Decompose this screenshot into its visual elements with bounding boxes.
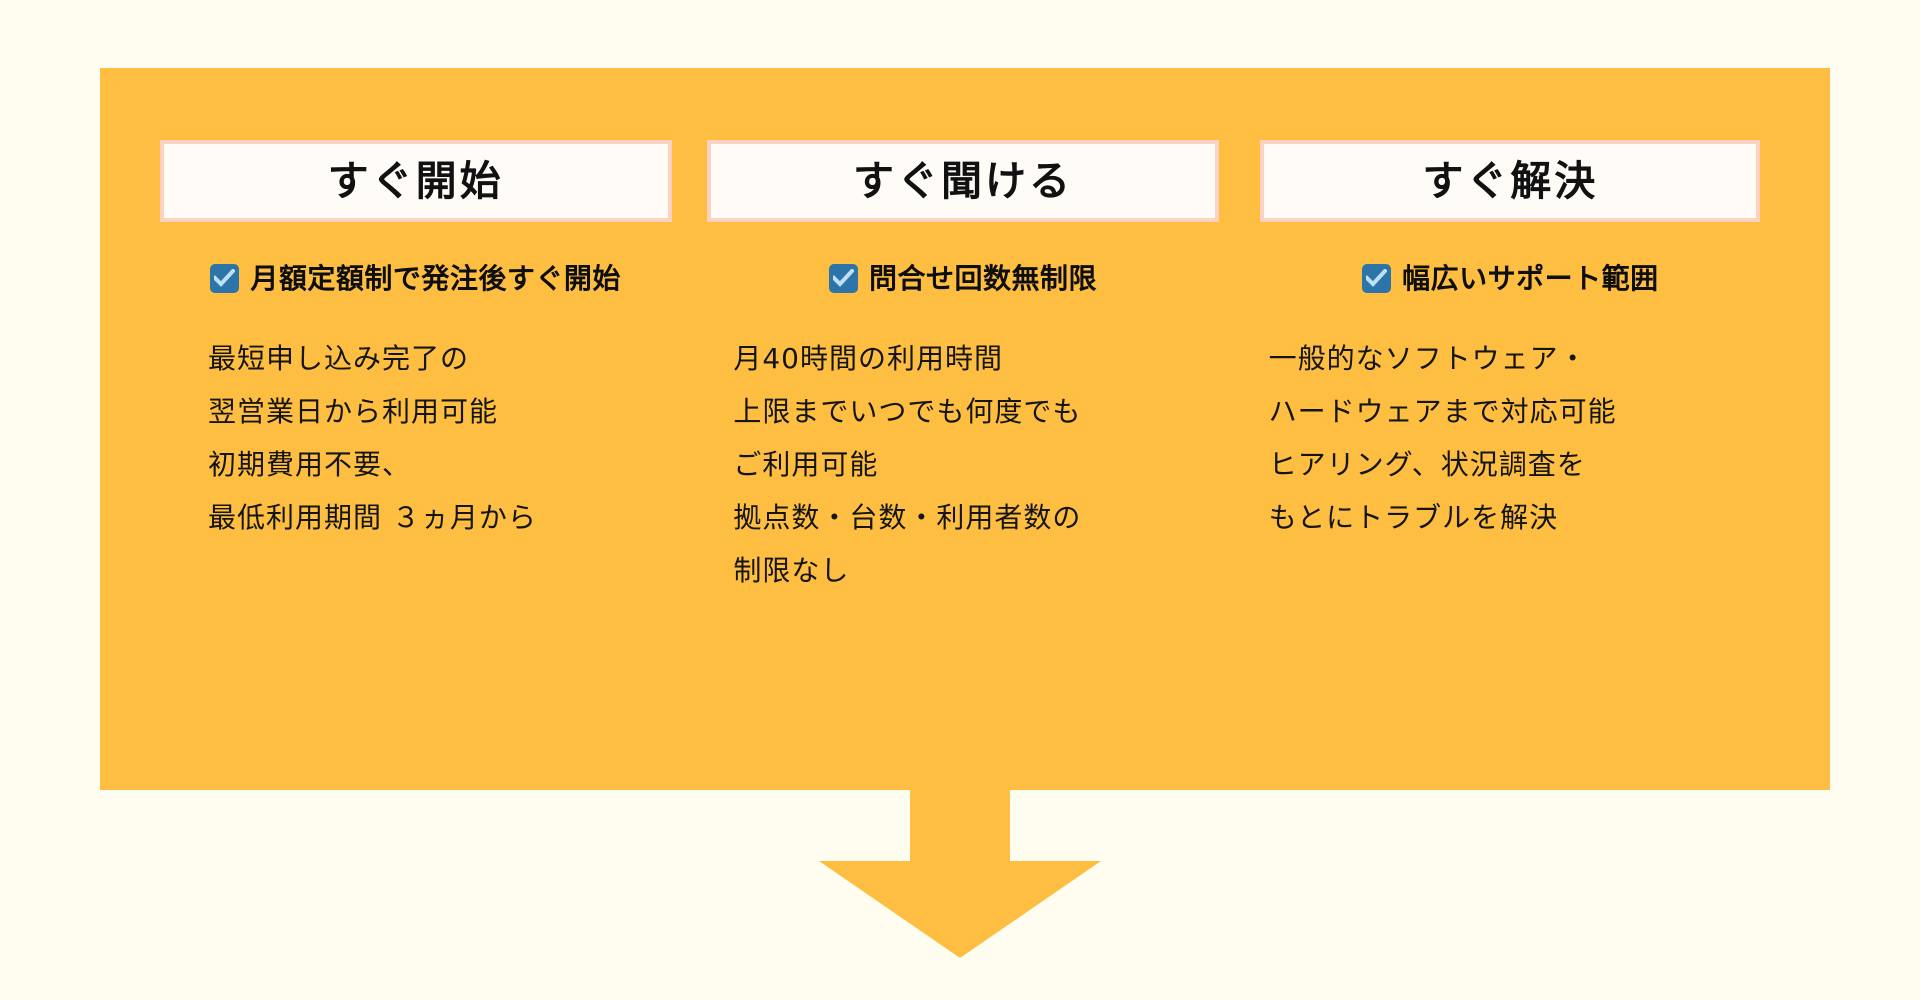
column-2-heading-box: すぐ聞ける [707, 140, 1219, 222]
column-2-subtitle: 問合せ回数無制限 [869, 265, 1097, 293]
body-line: ヒアリング、状況調査を [1269, 438, 1586, 491]
arrow-down-icon [819, 790, 1101, 958]
feature-column-3: すぐ解決 幅広いサポート範囲 一般的なソフトウェア・ ハードウェアまで対応可能 … [1237, 68, 1784, 790]
features-panel: すぐ開始 月額定額制で発注後すぐ開始 最短申し込み完了の 翌営業日から利用可能 … [100, 68, 1830, 790]
checkbox-checked-icon [210, 264, 239, 293]
column-2-subtitle-row: 問合せ回数無制限 [829, 264, 1097, 293]
body-line: 一般的なソフトウェア・ [1269, 332, 1588, 385]
checkbox-checked-icon [829, 264, 858, 293]
column-3-subtitle: 幅広いサポート範囲 [1402, 265, 1659, 293]
arrow-shaft [910, 790, 1010, 866]
body-line: 制限なし [733, 544, 849, 597]
column-3-subtitle-row: 幅広いサポート範囲 [1362, 264, 1659, 293]
column-3-heading: すぐ解決 [1422, 161, 1598, 202]
column-1-heading: すぐ開始 [328, 161, 504, 202]
body-line: もとにトラブルを解決 [1269, 491, 1558, 544]
feature-columns: すぐ開始 月額定額制で発注後すぐ開始 最短申し込み完了の 翌営業日から利用可能 … [100, 68, 1830, 790]
body-line: ご利用可能 [733, 438, 878, 491]
feature-column-2: すぐ聞ける 問合せ回数無制限 月40時間の利用時間 上限までいつでも何度でも ご… [689, 68, 1236, 790]
column-1-subtitle: 月額定額制で発注後すぐ開始 [250, 265, 621, 293]
column-1-body: 最短申し込み完了の 翌営業日から利用可能 初期費用不要、 最低利用期間 ３ヵ月か… [156, 332, 675, 544]
body-line: 最低利用期間 ３ヵ月から [208, 491, 537, 544]
body-line: 最短申し込み完了の [208, 332, 469, 385]
column-3-heading-box: すぐ解決 [1260, 140, 1760, 222]
infographic-stage: すぐ開始 月額定額制で発注後すぐ開始 最短申し込み完了の 翌営業日から利用可能 … [0, 0, 1920, 1000]
body-line: 拠点数・台数・利用者数の [733, 491, 1081, 544]
column-2-body: 月40時間の利用時間 上限までいつでも何度でも ご利用可能 拠点数・台数・利用者… [703, 332, 1222, 597]
column-1-heading-box: すぐ開始 [160, 140, 672, 222]
body-line: 月40時間の利用時間 [733, 332, 1003, 385]
feature-column-1: すぐ開始 月額定額制で発注後すぐ開始 最短申し込み完了の 翌営業日から利用可能 … [142, 68, 689, 790]
body-line: ハードウェアまで対応可能 [1269, 385, 1617, 438]
body-line: 翌営業日から利用可能 [208, 385, 498, 438]
arrow-head [819, 861, 1101, 958]
body-line: 初期費用不要、 [208, 438, 411, 491]
column-1-subtitle-row: 月額定額制で発注後すぐ開始 [210, 264, 621, 293]
column-2-heading: すぐ聞ける [853, 161, 1073, 202]
column-3-body: 一般的なソフトウェア・ ハードウェアまで対応可能 ヒアリング、状況調査を もとに… [1251, 332, 1770, 544]
checkbox-checked-icon [1362, 264, 1391, 293]
body-line: 上限までいつでも何度でも [733, 385, 1081, 438]
